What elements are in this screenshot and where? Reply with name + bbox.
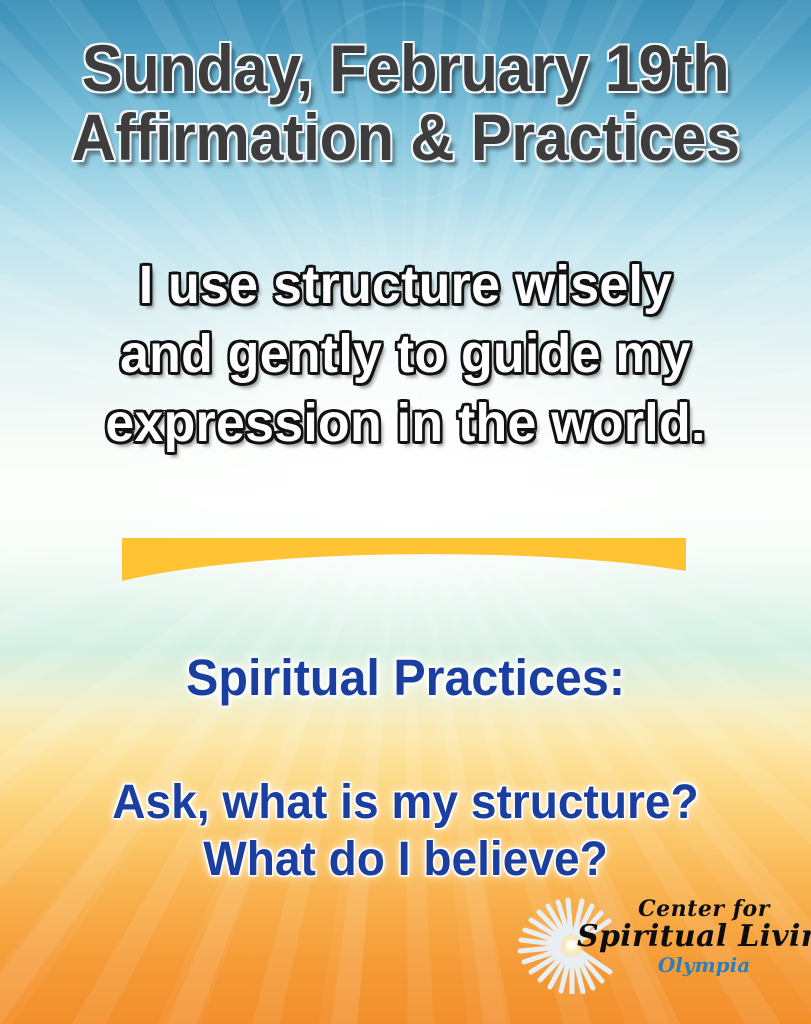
practices-line-2: What do I believe?: [16, 835, 795, 886]
logo-spiritual-living-text: Spiritual Living: [577, 919, 811, 954]
affirmation-line-3: expression in the world.: [16, 396, 795, 451]
logo-line-olympia: Olympia: [611, 955, 797, 975]
yellow-arc-divider: [122, 538, 686, 583]
title-line-1: Sunday, February 19th: [28, 38, 782, 99]
practices-line-1: Ask, what is my structure?: [16, 778, 795, 829]
affirmation-poster: Sunday, February 19th Affirmation & Prac…: [0, 0, 811, 1024]
title-line-2: Affirmation & Practices: [28, 107, 782, 168]
practices-text: Ask, what is my structure? What do I bel…: [0, 778, 811, 892]
logo: Center for Spiritual Living™ Olympia: [515, 896, 797, 994]
logo-line-spiritual-living: Spiritual Living™: [577, 922, 797, 952]
poster-content: Sunday, February 19th Affirmation & Prac…: [0, 0, 811, 1024]
affirmation-line-2: and gently to guide my: [16, 327, 795, 382]
logo-wordmark: Center for Spiritual Living™ Olympia: [611, 898, 797, 992]
affirmation-text: I use structure wisely and gently to gui…: [0, 258, 811, 465]
logo-line-center-for: Center for: [611, 898, 797, 920]
affirmation-line-1: I use structure wisely: [16, 258, 795, 313]
divider-shape: [122, 538, 686, 583]
practices-heading: Spiritual Practices:: [20, 648, 790, 707]
page-title: Sunday, February 19th Affirmation & Prac…: [0, 38, 811, 175]
